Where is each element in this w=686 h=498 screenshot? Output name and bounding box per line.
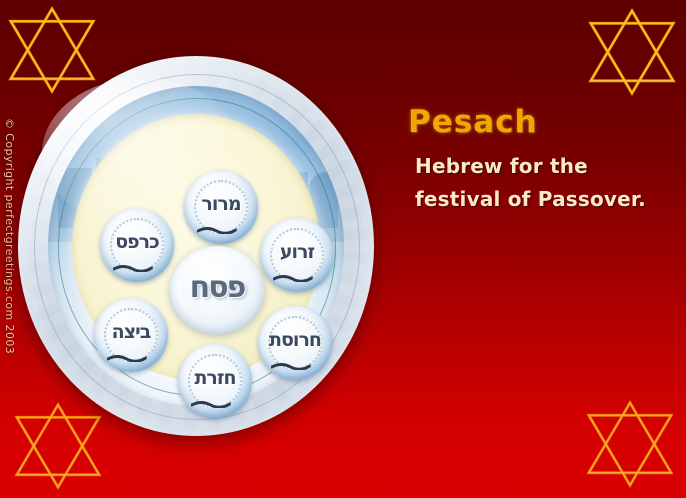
greeting-card: © Copyright perfectgreetings.com 2003 (0, 0, 686, 498)
brushstroke-icon (271, 357, 318, 365)
subtitle-line-2: festival of Passover. (415, 187, 646, 211)
brushstroke-icon (113, 259, 160, 267)
brushstroke-icon (107, 349, 154, 357)
seder-item-hebrew-label: כרפס (115, 231, 159, 253)
seder-item-maror[interactable]: מרור (184, 170, 258, 244)
seder-plate-center-pesach[interactable]: פסח (170, 246, 264, 334)
seder-item-hebrew-label: מרור (201, 193, 240, 215)
brushstroke-icon (197, 221, 244, 229)
brushstroke-icon (273, 269, 320, 277)
copyright-notice: © Copyright perfectgreetings.com 2003 (0, 118, 16, 378)
seder-item-chazeret[interactable]: חזרת (178, 344, 252, 418)
seder-center-hebrew-label: פסח (190, 270, 245, 305)
star-of-david-icon-top-right (584, 6, 680, 98)
page-title: Pesach (408, 104, 538, 140)
seder-item-hebrew-label: ביצה (112, 321, 151, 343)
seder-item-karpas[interactable]: כרפס (100, 208, 174, 282)
seder-item-hebrew-label: חזרת (194, 367, 235, 389)
subtitle-line-1: Hebrew for the (415, 154, 588, 178)
brushstroke-icon (191, 395, 238, 403)
seder-plate: מרור כרפס זרוע ביצה (18, 48, 380, 448)
seder-item-hebrew-label: זרוע (280, 241, 314, 263)
star-of-david-icon-bottom-right (582, 398, 678, 490)
seder-item-beitzah[interactable]: ביצה (94, 298, 168, 372)
seder-item-hebrew-label: חרוסת (269, 329, 321, 351)
seder-item-charoset[interactable]: חרוסת (258, 306, 332, 380)
seder-item-zeroa[interactable]: זרוע (260, 218, 334, 292)
